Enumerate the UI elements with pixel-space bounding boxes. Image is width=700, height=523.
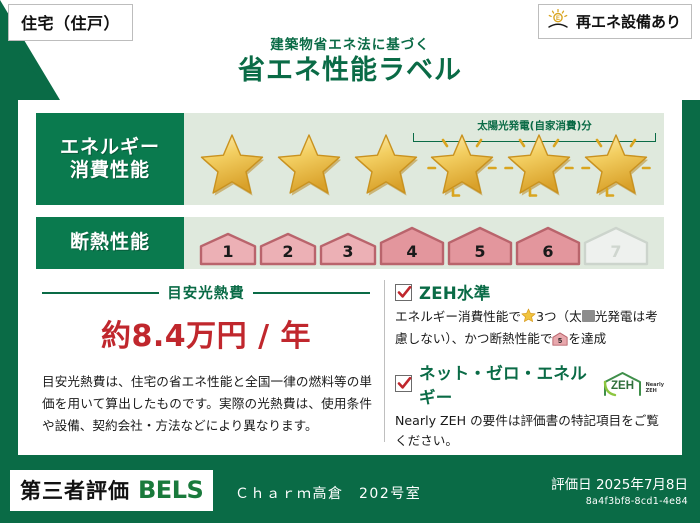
- insulation-grade-3: 3: [319, 232, 377, 266]
- net-zero-head: ネット・ゼロ・エネルギー ZEH Nearly ZEH: [395, 360, 664, 408]
- label-footer: 第三者評価 BELS Ｃｈａｒｍ高倉 202号室 評価日 2025年7月8日 8…: [0, 461, 700, 523]
- check-icon: [397, 285, 412, 300]
- inline-star-icon: [521, 308, 536, 329]
- net-zero-title: ネット・ゼロ・エネルギー: [419, 360, 591, 408]
- evaluation-id: 8a4f3bf8-8cd1-4e84: [551, 496, 688, 507]
- utility-cost-value: 約8.4万円 / 年: [36, 311, 376, 355]
- insulation-performance-label: 断熱性能: [36, 217, 184, 269]
- label-title: 建築物省エネ法に基づく 省エネ性能ラベル: [0, 38, 700, 88]
- sun-energy-icon: E: [547, 9, 569, 33]
- net-zero-checkbox[interactable]: [395, 375, 412, 392]
- energy-performance-body: 太陽光発電(自家消費)分: [184, 113, 664, 205]
- building-name: Ｃｈａｒｍ高倉 202号室: [235, 483, 421, 503]
- star-icon: [350, 131, 422, 197]
- zeh-standard-checkbox[interactable]: [395, 284, 412, 301]
- zeh-standard-title: ZEH水準: [419, 280, 491, 304]
- energy-performance-row: エネルギー 消費性能 太陽光発電(自家消費)分: [36, 113, 664, 205]
- category-tag: 住宅（住戸）: [8, 4, 133, 41]
- panel-divider: [384, 280, 385, 442]
- net-zero-energy-block: ネット・ゼロ・エネルギー ZEH Nearly ZEH: [395, 360, 664, 452]
- utility-cost-heading: 目安光熱費: [42, 282, 370, 303]
- insulation-grade-scale: 1234567: [184, 217, 664, 269]
- insulation-grade-1: 1: [199, 232, 257, 266]
- inline-grade-badge-icon: 5: [552, 332, 568, 352]
- zeh-logo-sub2: ZEH: [646, 388, 657, 394]
- star-solar-icon: [426, 131, 498, 197]
- star-solar-icon: [580, 131, 652, 197]
- insulation-grade-7: 7: [583, 226, 649, 266]
- evaluation-date: 評価日 2025年7月8日: [551, 473, 688, 493]
- heading-rule-right: [253, 292, 370, 294]
- third-party-evaluation-tag: 第三者評価 BELS: [10, 470, 213, 511]
- star-icon: [273, 131, 345, 197]
- zeh-standard-head: ZEH水準: [395, 280, 664, 304]
- insulation-grade-4: 4: [379, 226, 445, 266]
- check-icon: [397, 376, 412, 391]
- svg-text:ZEH: ZEH: [611, 380, 634, 392]
- renewable-tag-label: 再エネ設備あり: [576, 11, 681, 32]
- zeh-standard-body: エネルギー消費性能で3つ（太光発電は考慮しない）、かつ断熱性能で5を達成: [395, 307, 664, 353]
- insulation-performance-body: 1234567: [184, 217, 664, 269]
- energy-label-line2: 消費性能: [70, 159, 150, 182]
- star-solar-icon: [503, 131, 575, 197]
- zeh-body-mid: 3つ（太: [536, 309, 582, 324]
- redacted-character: [582, 310, 595, 322]
- label-card: エネルギー 消費性能 太陽光発電(自家消費)分 断熱性能 1234567: [18, 100, 682, 455]
- bels-logo: BELS: [138, 476, 203, 504]
- utility-cost-panel: 目安光熱費 約8.4万円 / 年 目安光熱費は、住宅の省エネ性能と全国一律の燃料…: [36, 278, 376, 444]
- utility-cost-note: 目安光熱費は、住宅の省エネ性能と全国一律の燃料等の単価を用いて算出したものです。…: [42, 371, 372, 437]
- energy-star-rating: [184, 113, 664, 205]
- insulation-grade-5: 5: [447, 226, 513, 266]
- energy-label-line1: エネルギー: [60, 136, 160, 159]
- bels-energy-label: 住宅（住戸） E 再エネ設備あり 建築物省エネ法に基づく 省エネ性能ラベル: [0, 0, 700, 523]
- zeh-body-pre: エネルギー消費性能で: [395, 309, 521, 324]
- insulation-grade-2: 2: [259, 232, 317, 266]
- net-zero-body: Nearly ZEH の要件は評価書の特記項目をご覧ください。: [395, 411, 664, 452]
- zeh-logo: ZEH Nearly ZEH: [602, 371, 664, 397]
- title-main: 省エネ性能ラベル: [0, 54, 700, 88]
- star-icon: [196, 131, 268, 197]
- zeh-body-end: を達成: [568, 331, 606, 346]
- heading-rule-left: [42, 292, 159, 294]
- third-party-label: 第三者評価: [20, 475, 130, 505]
- insulation-performance-row: 断熱性能 1234567: [36, 217, 664, 269]
- zeh-standard-block: ZEH水準 エネルギー消費性能で3つ（太光発電は考慮しない）、かつ断熱性能で5を…: [395, 280, 664, 353]
- svg-text:E: E: [556, 16, 560, 22]
- renewable-energy-tag: E 再エネ設備あり: [538, 4, 692, 39]
- zeh-panel: ZEH水準 エネルギー消費性能で3つ（太光発電は考慮しない）、かつ断熱性能で5を…: [395, 278, 664, 444]
- insulation-grade-6: 6: [515, 226, 581, 266]
- lower-section: 目安光熱費 約8.4万円 / 年 目安光熱費は、住宅の省エネ性能と全国一律の燃料…: [36, 278, 664, 444]
- insulation-label-text: 断熱性能: [70, 231, 150, 254]
- energy-performance-label: エネルギー 消費性能: [36, 113, 184, 205]
- utility-cost-heading-text: 目安光熱費: [167, 282, 245, 303]
- footer-meta: 評価日 2025年7月8日 8a4f3bf8-8cd1-4e84: [551, 473, 688, 507]
- svg-text:5: 5: [558, 336, 562, 345]
